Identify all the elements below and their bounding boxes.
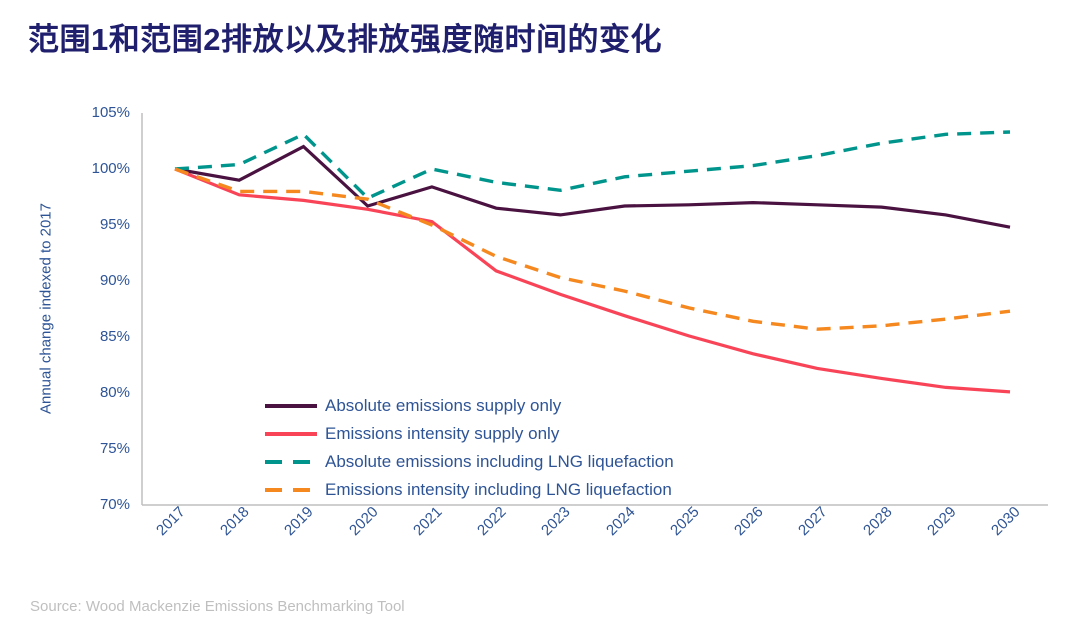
legend-item-label: Absolute emissions supply only	[325, 396, 561, 416]
chart-legend: Absolute emissions supply onlyEmissions …	[265, 392, 674, 504]
legend-item-label: Absolute emissions including LNG liquefa…	[325, 452, 674, 472]
legend-item-label: Emissions intensity including LNG liquef…	[325, 480, 672, 500]
legend-swatch-icon	[265, 460, 317, 464]
series-line	[175, 147, 1010, 228]
chart-page: 范围1和范围2排放以及排放强度随时间的变化 Annual change inde…	[0, 0, 1080, 634]
legend-swatch-icon	[265, 488, 317, 492]
legend-item[interactable]: Emissions intensity including LNG liquef…	[265, 476, 674, 504]
legend-item[interactable]: Emissions intensity supply only	[265, 420, 674, 448]
data-series-group	[175, 132, 1010, 392]
plot-area	[0, 0, 1080, 634]
series-line	[175, 169, 1010, 392]
legend-item-label: Emissions intensity supply only	[325, 424, 559, 444]
series-line	[175, 132, 1010, 198]
source-note: Source: Wood Mackenzie Emissions Benchma…	[30, 598, 405, 615]
legend-swatch-icon	[265, 432, 317, 436]
legend-item[interactable]: Absolute emissions including LNG liquefa…	[265, 448, 674, 476]
legend-item[interactable]: Absolute emissions supply only	[265, 392, 674, 420]
legend-swatch-icon	[265, 404, 317, 408]
